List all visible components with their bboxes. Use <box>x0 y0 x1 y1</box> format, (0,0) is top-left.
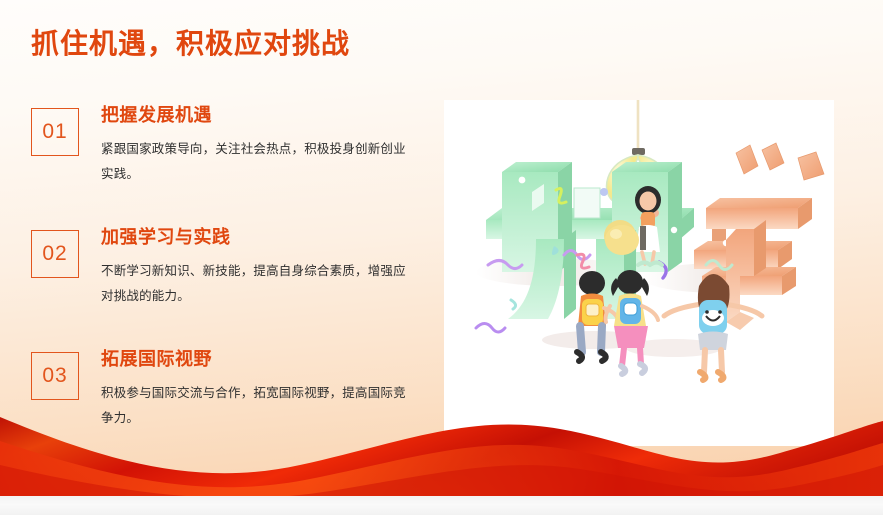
item-number-badge: 02 <box>31 230 79 278</box>
girl-with-blue-backpack <box>606 270 659 374</box>
list-item[interactable]: 02 加强学习与实践 不断学习新知识、新技能，提高自身综合素质，增强应对挑战的能… <box>31 222 421 322</box>
item-number-badge: 01 <box>31 108 79 156</box>
key-points-list: 01 把握发展机遇 紧跟国家政策导向，关注社会热点，积极投身创新创业实践。 02… <box>31 100 421 444</box>
item-title: 把握发展机遇 <box>101 104 421 127</box>
slide-root: 抓住机遇，积极应对挑战 01 把握发展机遇 紧跟国家政策导向，关注社会热点，积极… <box>0 0 883 515</box>
item-body: 把握发展机遇 紧跟国家政策导向，关注社会热点，积极投身创新创业实践。 <box>101 100 421 187</box>
item-number-badge: 03 <box>31 352 79 400</box>
item-title: 拓展国际视野 <box>101 348 421 371</box>
yellow-balloon <box>605 225 639 255</box>
item-body: 加强学习与实践 不断学习新知识、新技能，提高自身综合素质，增强应对挑战的能力。 <box>101 222 421 309</box>
list-item[interactable]: 01 把握发展机遇 紧跟国家政策导向，关注社会热点，积极投身创新创业实践。 <box>31 100 421 200</box>
item-description: 紧跟国家政策导向，关注社会热点，积极投身创新创业实践。 <box>101 137 406 187</box>
bottom-bar <box>0 496 883 515</box>
item-description: 不断学习新知识、新技能，提高自身综合素质，增强应对挑战的能力。 <box>101 259 406 309</box>
item-title: 加强学习与实践 <box>101 226 421 249</box>
page-title: 抓住机遇，积极应对挑战 <box>31 22 350 62</box>
